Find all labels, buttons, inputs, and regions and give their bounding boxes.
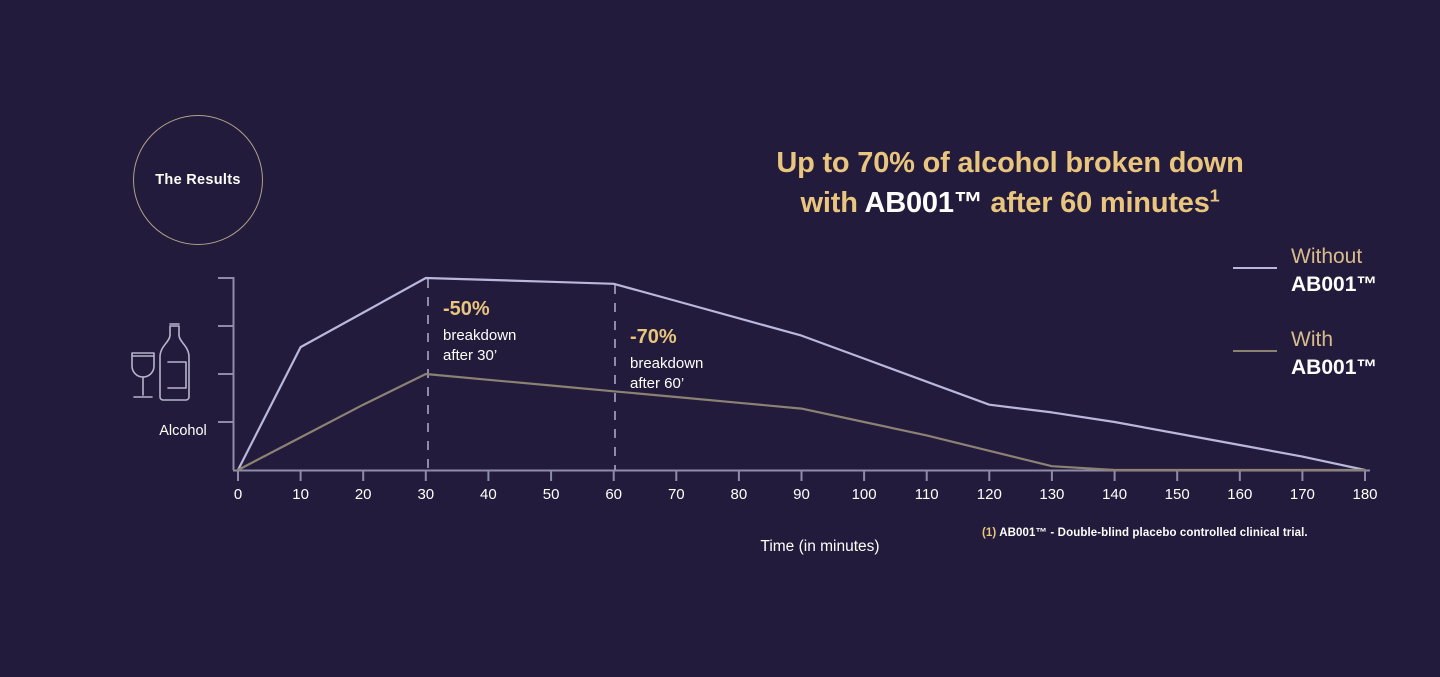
x-tick-label-150: 150 [1157, 486, 1197, 503]
x-tick-label-60: 60 [594, 486, 634, 503]
x-tick-label-100: 100 [844, 486, 884, 503]
series-line-without-ab001 [238, 278, 1365, 470]
x-tick-label-110: 110 [907, 486, 947, 503]
footnote-brand: AB001™ [999, 527, 1047, 539]
footnote-text: - Double-blind placebo controlled clinic… [1047, 527, 1308, 539]
x-tick-label-30: 30 [406, 486, 446, 503]
annotation-60min-line1: breakdown [630, 354, 703, 374]
annotation-30min-percent: -50% [443, 296, 516, 323]
x-axis-title: Time (in minutes) [650, 538, 990, 556]
annotation-30min-line1: breakdown [443, 326, 516, 346]
line-chart-plot [0, 0, 1440, 677]
x-tick-label-90: 90 [782, 486, 822, 503]
x-tick-label-80: 80 [719, 486, 759, 503]
x-tick-label-10: 10 [281, 486, 321, 503]
x-tick-label-120: 120 [969, 486, 1009, 503]
annotation-30min: -50% breakdown after 30’ [443, 296, 516, 366]
x-tick-label-140: 140 [1095, 486, 1135, 503]
footnote: (1) AB001™ - Double-blind placebo contro… [982, 527, 1308, 539]
x-tick-label-70: 70 [656, 486, 696, 503]
x-tick-label-180: 180 [1345, 486, 1385, 503]
series-line-with-ab001 [238, 374, 1365, 470]
annotation-30min-line2: after 30’ [443, 346, 516, 366]
x-tick-label-20: 20 [343, 486, 383, 503]
x-tick-label-40: 40 [468, 486, 508, 503]
chart-canvas: The Results Up to 70% of alcohol broken … [0, 0, 1440, 677]
footnote-marker: (1) [982, 527, 996, 539]
y-axis-ticks [218, 278, 234, 422]
x-tick-label-170: 170 [1282, 486, 1322, 503]
x-tick-label-50: 50 [531, 486, 571, 503]
annotation-60min-percent: -70% [630, 324, 703, 351]
x-tick-label-0: 0 [218, 486, 258, 503]
x-axis-ticks [238, 470, 1365, 481]
x-tick-label-160: 160 [1220, 486, 1260, 503]
annotation-60min-line2: after 60’ [630, 374, 703, 394]
annotation-60min: -70% breakdown after 60’ [630, 324, 703, 394]
x-tick-label-130: 130 [1032, 486, 1072, 503]
